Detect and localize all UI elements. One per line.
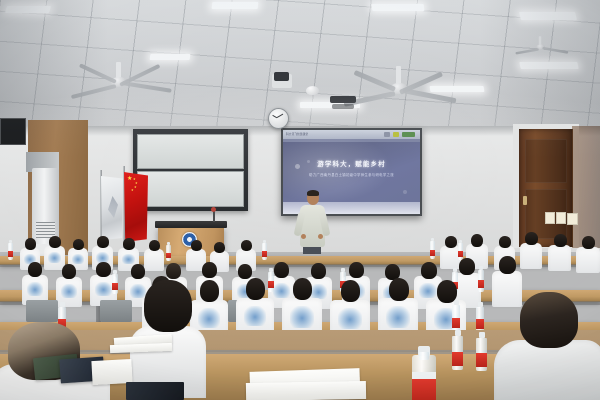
whiteboard-panel xyxy=(137,171,244,207)
microphone-head-icon xyxy=(211,207,216,212)
paper-stack xyxy=(246,381,366,400)
wall-clock xyxy=(268,108,289,129)
whiteboard-panel xyxy=(137,134,244,169)
ceiling-shading xyxy=(0,0,600,132)
door-handle[interactable] xyxy=(523,196,527,205)
flag-star-icon: ★ xyxy=(127,176,132,182)
door-panel xyxy=(525,139,567,183)
chair-back xyxy=(26,300,58,322)
presenter-left-hand xyxy=(301,234,306,239)
light-switch-plate[interactable] xyxy=(567,213,578,225)
chair-back xyxy=(100,300,132,322)
podium-desktop xyxy=(155,221,227,228)
whiteboard xyxy=(133,129,248,211)
light-switch-plate[interactable] xyxy=(545,212,555,224)
photo-scene: 科大讯飞智慧课堂 游学科大，赋能乡村 助力广西南丹县白土镇初级中学师生参与研电学… xyxy=(0,0,600,400)
clock-minute-hand xyxy=(277,114,284,119)
bottle-label-band xyxy=(412,372,436,379)
flag-star-icon: ★ xyxy=(134,186,137,189)
wood-wall-panel xyxy=(572,126,600,248)
tablet-device[interactable] xyxy=(126,382,184,400)
door[interactable] xyxy=(519,129,573,247)
projection-screen-glare xyxy=(283,130,420,214)
presenter-hair xyxy=(307,190,319,196)
light-switch-plate[interactable] xyxy=(556,212,566,224)
ceiling xyxy=(0,0,600,132)
wall-monitor xyxy=(0,118,26,145)
flag-star-icon: ★ xyxy=(131,189,134,192)
presenter-right-hand xyxy=(318,234,323,239)
